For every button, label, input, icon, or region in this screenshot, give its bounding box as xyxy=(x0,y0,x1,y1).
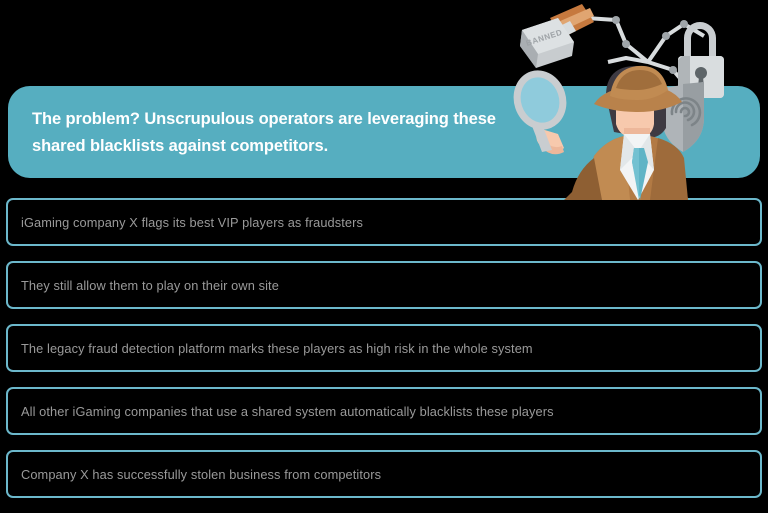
rod-joints xyxy=(612,16,688,74)
step-label: The legacy fraud detection platform mark… xyxy=(8,341,533,356)
step-item-2[interactable]: They still allow them to play on their o… xyxy=(6,261,762,309)
connector-rods xyxy=(586,18,704,90)
step-item-4[interactable]: All other iGaming companies that use a s… xyxy=(6,387,762,435)
step-label: All other iGaming companies that use a s… xyxy=(8,404,554,419)
step-item-3[interactable]: The legacy fraud detection platform mark… xyxy=(6,324,762,372)
banned-stamp-icon: BANNED xyxy=(520,4,594,68)
headline-text: The problem? Unscrupulous operators are … xyxy=(32,106,532,160)
step-label: iGaming company X flags its best VIP pla… xyxy=(8,215,363,230)
steps-list: iGaming company X flags its best VIP pla… xyxy=(6,198,762,513)
step-item-1[interactable]: iGaming company X flags its best VIP pla… xyxy=(6,198,762,246)
banned-stamp-text: BANNED xyxy=(525,28,564,48)
headline-banner: The problem? Unscrupulous operators are … xyxy=(8,86,760,178)
step-label: They still allow them to play on their o… xyxy=(8,278,279,293)
step-label: Company X has successfully stolen busine… xyxy=(8,467,381,482)
